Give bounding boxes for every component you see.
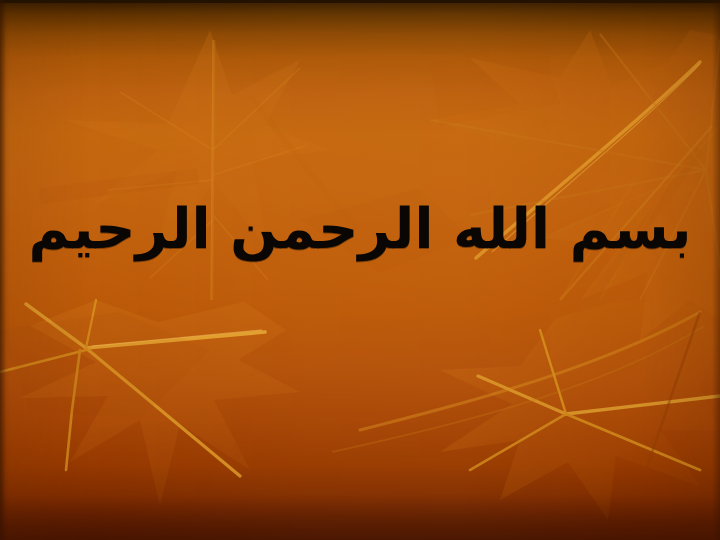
presentation-slide: بسم الله الرحمن الرحیم [0, 0, 720, 540]
top-edge-rule [0, 0, 720, 3]
slide-title-area: بسم الله الرحمن الرحیم [0, 180, 720, 280]
slide-title-bismillah: بسم الله الرحمن الرحیم [28, 202, 691, 258]
bottom-edge-vignette [0, 494, 720, 540]
